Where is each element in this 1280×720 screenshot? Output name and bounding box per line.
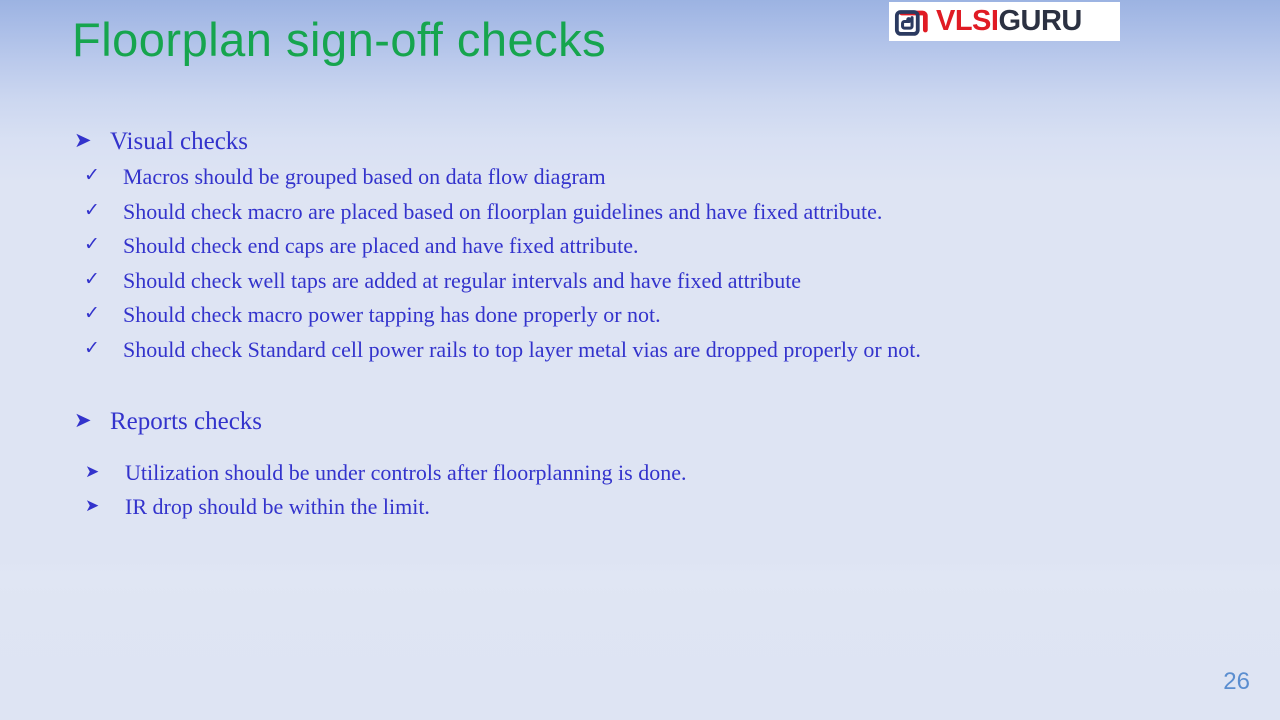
slide-body: ➤ Visual checks ✓ Macros should be group… <box>0 0 1280 720</box>
check-bullet-icon: ✓ <box>84 200 123 222</box>
list-item-label: Should check macro are placed based on f… <box>123 200 882 224</box>
check-bullet-icon: ✓ <box>84 269 123 291</box>
list-item-label: Should check macro power tapping has don… <box>123 303 661 327</box>
list-item: ✓ Should check well taps are added at re… <box>84 269 801 293</box>
list-item-label: Should check well taps are added at regu… <box>123 269 801 293</box>
arrow-bullet-icon: ➤ <box>74 128 110 153</box>
check-bullet-icon: ✓ <box>84 338 123 360</box>
arrow-bullet-icon: ➤ <box>74 408 110 433</box>
list-item: ✓ Should check end caps are placed and h… <box>84 234 639 258</box>
check-bullet-icon: ✓ <box>84 165 123 187</box>
list-item-label: Should check end caps are placed and hav… <box>123 234 639 258</box>
section-heading-visual-checks: ➤ Visual checks <box>74 128 248 155</box>
check-bullet-icon: ✓ <box>84 303 123 325</box>
list-item: ✓ Should check macro are placed based on… <box>84 200 882 224</box>
list-item: ✓ Should check macro power tapping has d… <box>84 303 661 327</box>
section-heading-label: Visual checks <box>110 128 248 155</box>
section-heading-label: Reports checks <box>110 408 262 435</box>
list-item-label: Utilization should be under controls aft… <box>125 461 686 485</box>
list-item: ✓ Macros should be grouped based on data… <box>84 165 606 189</box>
section-heading-reports-checks: ➤ Reports checks <box>74 408 262 435</box>
arrow-bullet-icon: ➤ <box>85 495 125 517</box>
list-item-label: Should check Standard cell power rails t… <box>123 338 921 362</box>
check-bullet-icon: ✓ <box>84 234 123 256</box>
slide-canvas: VLSIGURU Floorplan sign-off checks ➤ Vis… <box>0 0 1280 720</box>
list-item: ✓ Should check Standard cell power rails… <box>84 338 921 362</box>
list-item-label: IR drop should be within the limit. <box>125 495 430 519</box>
arrow-bullet-icon: ➤ <box>85 461 125 483</box>
page-number: 26 <box>1223 668 1250 696</box>
list-item: ➤ Utilization should be under controls a… <box>85 461 686 485</box>
list-item: ➤ IR drop should be within the limit. <box>85 495 430 519</box>
list-item-label: Macros should be grouped based on data f… <box>123 165 606 189</box>
